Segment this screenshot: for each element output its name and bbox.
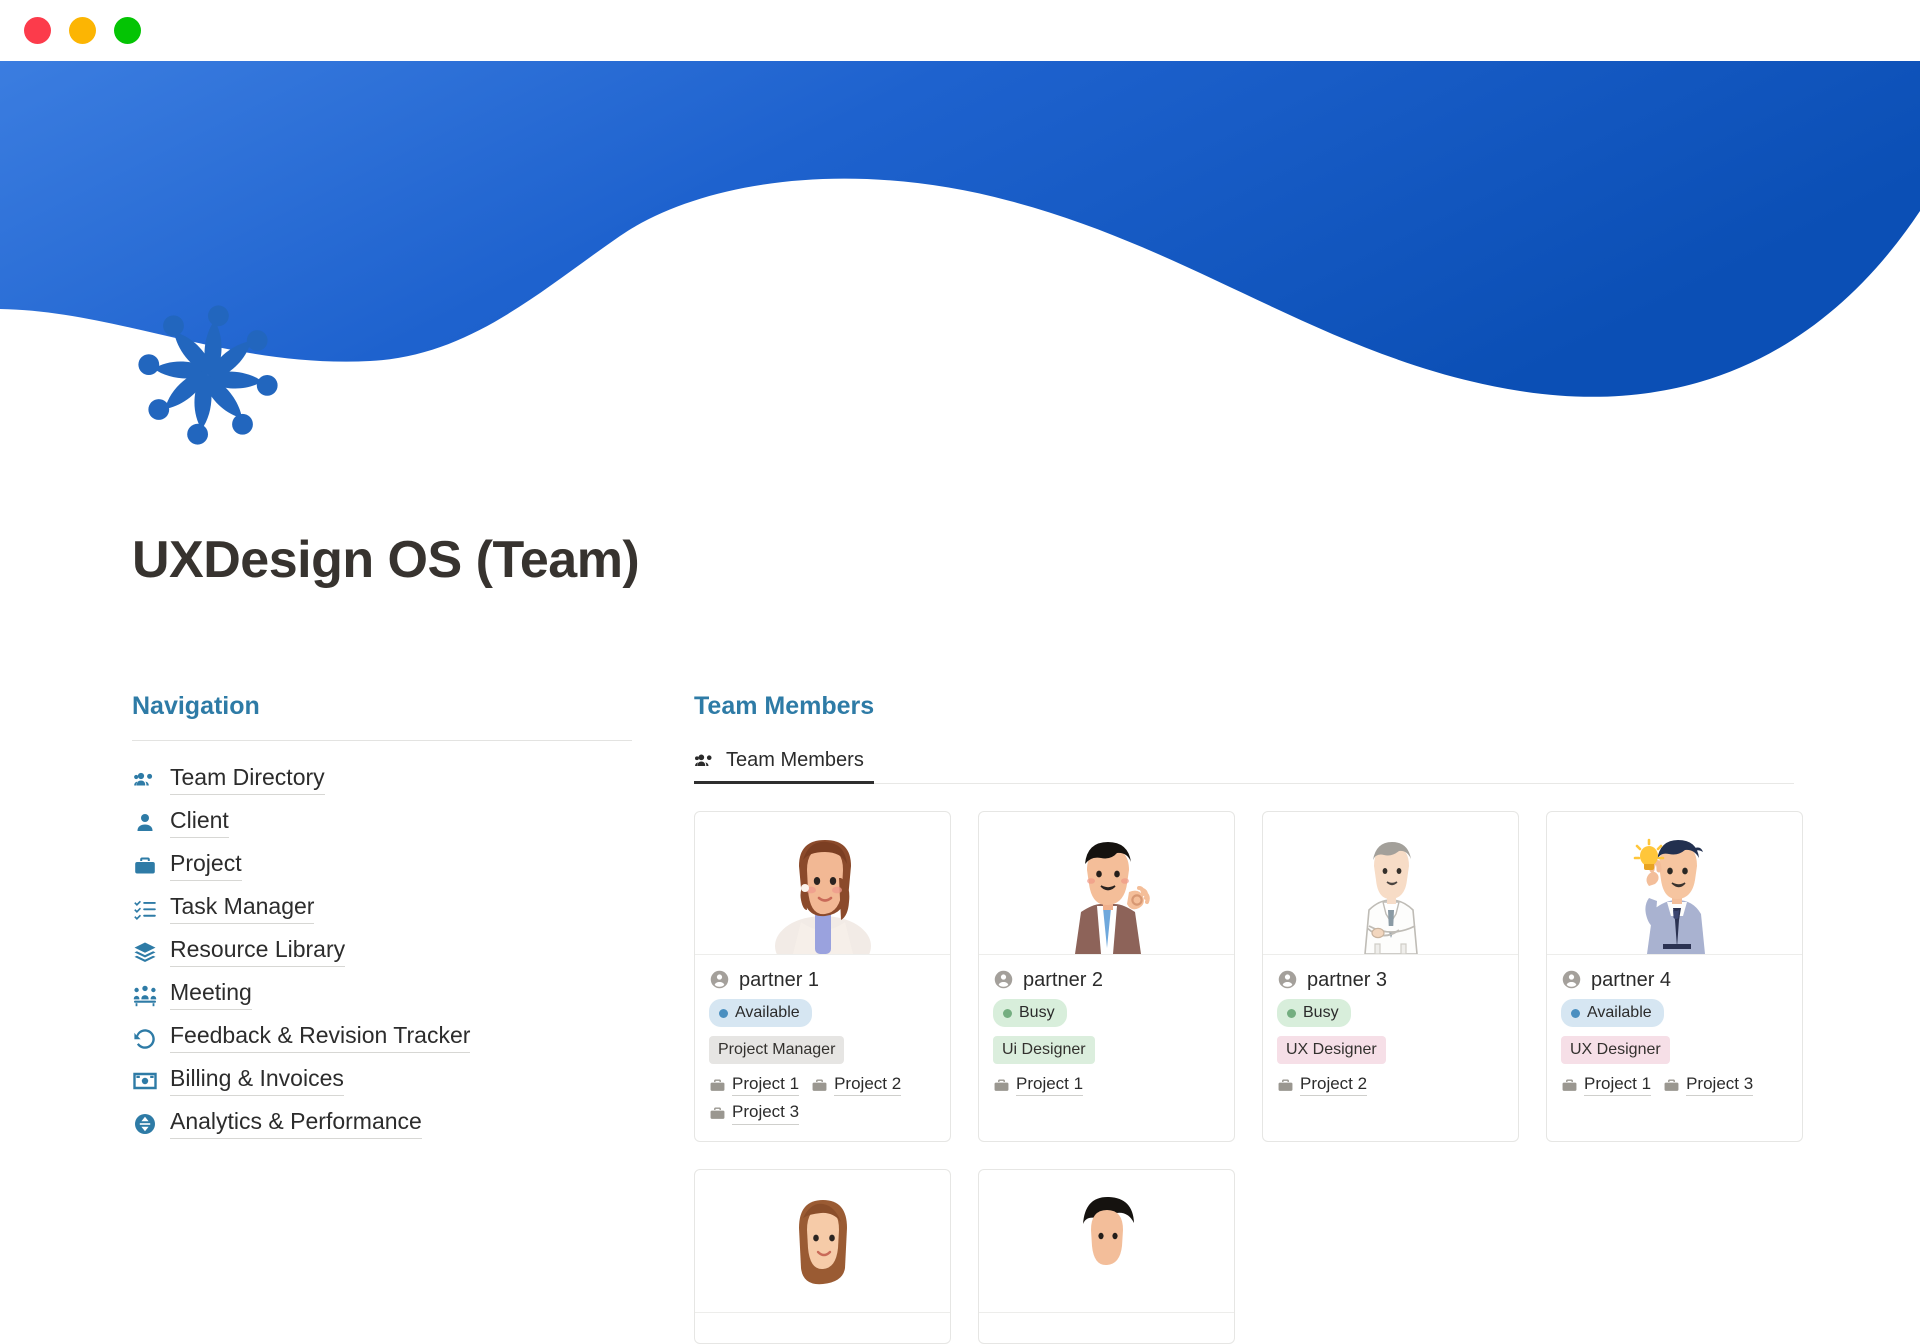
project-links: Project 1 Project 2 Project 3 — [709, 1074, 936, 1125]
member-photo — [979, 1170, 1234, 1313]
briefcase-icon — [709, 1105, 726, 1122]
sidebar-item-label: Billing & Invoices — [170, 1065, 344, 1096]
close-window-button[interactable] — [24, 17, 51, 44]
member-details: partner 2 Busy Ui Designer Project 1 — [979, 955, 1234, 1112]
member-photo — [695, 812, 950, 955]
team-member-card[interactable] — [978, 1169, 1235, 1344]
briefcase-icon — [1277, 1077, 1294, 1094]
member-photo — [1263, 812, 1518, 955]
minimize-window-button[interactable] — [69, 17, 96, 44]
sidebar-item-label: Project — [170, 850, 242, 881]
member-name-row: partner 4 — [1561, 969, 1788, 990]
traffic-light-controls — [24, 17, 141, 44]
team-members-heading: Team Members — [694, 691, 1794, 721]
status-badge: Busy — [1277, 999, 1351, 1027]
woman-long-hair-illustration — [763, 1184, 883, 1312]
project-link[interactable]: Project 1 — [709, 1074, 799, 1096]
member-details — [979, 1313, 1234, 1343]
sidebar-item-project[interactable]: Project — [132, 844, 632, 887]
status-label: Busy — [1019, 1003, 1055, 1023]
role-tag: UX Designer — [1561, 1036, 1670, 1064]
status-dot-icon — [1571, 1009, 1580, 1018]
member-details: partner 3 Busy UX Designer Project 2 — [1263, 955, 1518, 1112]
status-dot-icon — [1003, 1009, 1012, 1018]
team-member-card[interactable]: partner 2 Busy Ui Designer Project 1 — [978, 811, 1235, 1142]
member-details — [695, 1313, 950, 1343]
member-details: partner 1 Available Project Manager Proj… — [695, 955, 950, 1141]
status-dot-icon — [1287, 1009, 1296, 1018]
sidebar-item-meeting[interactable]: Meeting — [132, 973, 632, 1016]
status-badge: Available — [1561, 999, 1664, 1027]
status-dot-icon — [719, 1009, 728, 1018]
sidebar-item-resource-library[interactable]: Resource Library — [132, 930, 632, 973]
project-link[interactable]: Project 2 — [811, 1074, 901, 1096]
account-circle-icon — [1277, 969, 1298, 990]
man-brown-suit-ok-gesture-illustration — [1047, 826, 1167, 954]
member-name-row: partner 3 — [1277, 969, 1504, 990]
layers-icon — [132, 939, 158, 965]
checklist-icon — [132, 896, 158, 922]
member-name-row: partner 2 — [993, 969, 1220, 990]
briefcase-icon — [132, 853, 158, 879]
money-bill-icon — [132, 1068, 158, 1094]
window-titlebar — [0, 0, 1920, 61]
app-logo — [128, 295, 288, 455]
briefcase-icon — [993, 1077, 1010, 1094]
account-circle-icon — [993, 969, 1014, 990]
sidebar-item-label: Feedback & Revision Tracker — [170, 1022, 470, 1053]
project-links: Project 2 — [1277, 1074, 1504, 1096]
role-tag: Project Manager — [709, 1036, 844, 1064]
man-lightbulb-idea-illustration — [1615, 826, 1735, 954]
briefcase-icon — [709, 1077, 726, 1094]
navigation-divider — [132, 740, 632, 741]
maximize-window-button[interactable] — [114, 17, 141, 44]
status-badge: Available — [709, 999, 812, 1027]
sidebar-item-analytics-performance[interactable]: Analytics & Performance — [132, 1102, 632, 1145]
project-label: Project 1 — [732, 1074, 799, 1096]
sidebar-item-label: Client — [170, 807, 229, 838]
member-name: partner 3 — [1307, 970, 1387, 990]
member-photo — [695, 1170, 950, 1313]
project-link[interactable]: Project 1 — [993, 1074, 1083, 1096]
briefcase-icon — [1663, 1077, 1680, 1094]
navigation-list: Team Directory Client Project — [132, 758, 632, 1145]
status-badge: Busy — [993, 999, 1067, 1027]
role-tag: Ui Designer — [993, 1036, 1095, 1064]
man-dark-hair-illustration — [1047, 1184, 1167, 1312]
page-title: UXDesign OS (Team) — [132, 531, 639, 591]
member-name: partner 4 — [1591, 970, 1671, 990]
project-label: Project 3 — [1686, 1074, 1753, 1096]
status-label: Busy — [1303, 1003, 1339, 1023]
analytics-arrows-icon — [132, 1111, 158, 1137]
account-circle-icon — [1561, 969, 1582, 990]
member-name: partner 1 — [739, 970, 819, 990]
sidebar-item-task-manager[interactable]: Task Manager — [132, 887, 632, 930]
project-label: Project 1 — [1584, 1074, 1651, 1096]
project-links: Project 1 Project 3 — [1561, 1074, 1788, 1096]
team-members-panel: Team Members Team Members — [694, 691, 1794, 1344]
navigation-heading: Navigation — [132, 691, 632, 721]
project-link[interactable]: Project 2 — [1277, 1074, 1367, 1096]
briefcase-icon — [811, 1077, 828, 1094]
people-group-icon — [132, 767, 158, 793]
project-link[interactable]: Project 1 — [1561, 1074, 1651, 1096]
briefcase-icon — [1561, 1077, 1578, 1094]
status-label: Available — [735, 1003, 800, 1023]
man-arms-crossed-white-shirt-illustration — [1331, 826, 1451, 954]
sidebar-item-label: Meeting — [170, 979, 252, 1010]
woman-brown-hair-illustration — [763, 826, 883, 954]
navigation-panel: Navigation Team Directory Client — [132, 691, 632, 1145]
team-pinwheel-logo-icon — [128, 295, 288, 455]
role-tag: UX Designer — [1277, 1036, 1386, 1064]
sidebar-item-label: Team Directory — [170, 764, 325, 795]
team-member-card[interactable]: partner 3 Busy UX Designer Project 2 — [1262, 811, 1519, 1142]
sidebar-item-label: Analytics & Performance — [170, 1108, 422, 1139]
status-label: Available — [1587, 1003, 1652, 1023]
sidebar-item-label: Task Manager — [170, 893, 314, 924]
tab-bar: Team Members — [694, 740, 1794, 784]
member-photo — [1547, 812, 1802, 955]
person-icon — [132, 810, 158, 836]
project-label: Project 3 — [732, 1102, 799, 1124]
sidebar-item-team-directory[interactable]: Team Directory — [132, 758, 632, 801]
page-content: UXDesign OS (Team) Navigation Team Direc… — [0, 61, 1920, 1200]
project-link[interactable]: Project 3 — [709, 1102, 799, 1124]
project-label: Project 1 — [1016, 1074, 1083, 1096]
project-label: Project 2 — [1300, 1074, 1367, 1096]
team-member-card[interactable]: partner 4 Available UX Designer Project … — [1546, 811, 1803, 1142]
member-name: partner 2 — [1023, 970, 1103, 990]
project-label: Project 2 — [834, 1074, 901, 1096]
team-member-card[interactable] — [694, 1169, 951, 1344]
history-revert-icon — [132, 1025, 158, 1051]
sidebar-item-label: Resource Library — [170, 936, 345, 967]
member-name-row: partner 1 — [709, 969, 936, 990]
team-member-card-grid: partner 1 Available Project Manager Proj… — [694, 811, 1794, 1344]
sidebar-item-feedback-revision-tracker[interactable]: Feedback & Revision Tracker — [132, 1016, 632, 1059]
tab-team-members[interactable]: Team Members — [694, 740, 874, 784]
member-details: partner 4 Available UX Designer Project … — [1547, 955, 1802, 1112]
people-group-icon — [694, 750, 716, 772]
member-photo — [979, 812, 1234, 955]
project-link[interactable]: Project 3 — [1663, 1074, 1753, 1096]
sidebar-item-client[interactable]: Client — [132, 801, 632, 844]
project-links: Project 1 — [993, 1074, 1220, 1096]
account-circle-icon — [709, 969, 730, 990]
tab-label: Team Members — [726, 749, 864, 772]
meeting-people-icon — [132, 982, 158, 1008]
sidebar-item-billing-invoices[interactable]: Billing & Invoices — [132, 1059, 632, 1102]
team-member-card[interactable]: partner 1 Available Project Manager Proj… — [694, 811, 951, 1142]
